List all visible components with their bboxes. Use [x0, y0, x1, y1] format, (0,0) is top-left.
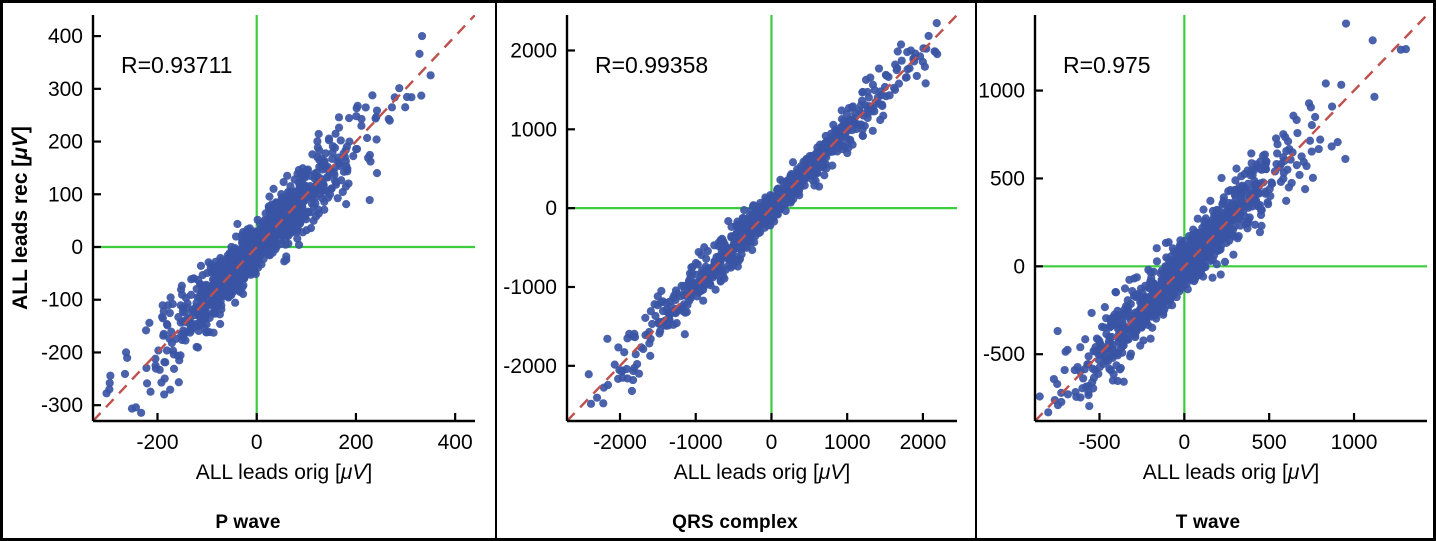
correlation-annotation: R=0.975 — [1063, 52, 1151, 78]
y-tick-label: 0 — [1013, 255, 1025, 278]
y-tick-label: -300 — [41, 394, 83, 417]
x-tick-label: 1000 — [824, 431, 871, 454]
y-axis-title: ALL leads rec [μV] — [9, 126, 32, 310]
y-tick-label: -2000 — [503, 355, 557, 378]
y-tick-label: -100 — [41, 289, 83, 312]
x-axis-title: ALL leads orig [μV] — [196, 461, 373, 484]
panel-caption-t-wave: T wave — [977, 512, 1436, 534]
x-tick-label: -500 — [1078, 431, 1120, 454]
correlation-annotation: R=0.99358 — [595, 52, 708, 78]
x-tick-label: 400 — [438, 431, 473, 454]
y-tick-label: 300 — [48, 78, 83, 101]
y-tick-label: -200 — [41, 341, 83, 364]
x-tick-label: 2000 — [900, 431, 947, 454]
y-tick-label: 1000 — [978, 80, 1025, 103]
panel-qrs-complex: -2000-1000010002000-2000-1000010002000AL… — [497, 3, 973, 541]
x-tick-label: -1000 — [669, 431, 723, 454]
panel-caption-qrs-complex: QRS complex — [497, 512, 973, 534]
correlation-annotation: R=0.93711 — [121, 52, 232, 78]
x-tick-label: 0 — [1178, 431, 1190, 454]
panel-caption-p-wave: P wave — [3, 512, 493, 534]
y-tick-label: -1000 — [503, 276, 557, 299]
x-tick-label: 200 — [338, 431, 373, 454]
x-tick-label: 0 — [766, 431, 778, 454]
y-tick-label: 400 — [48, 25, 83, 48]
scatter-plot-p-wave: -300-200-1000100200300400-2000200400ALL … — [3, 3, 493, 493]
y-tick-label: 100 — [48, 183, 83, 206]
scatter-plot-t-wave: -50005001000-50005001000ALL leads orig [… — [977, 3, 1436, 493]
x-tick-label: -200 — [136, 431, 178, 454]
x-tick-label: -2000 — [593, 431, 647, 454]
panel-t-wave: -50005001000-50005001000ALL leads orig [… — [977, 3, 1436, 541]
y-tick-label: 0 — [545, 197, 557, 220]
y-tick-label: 200 — [48, 131, 83, 154]
x-tick-label: 500 — [1252, 431, 1287, 454]
figure-container: -300-200-1000100200300400-2000200400ALL … — [0, 0, 1436, 541]
scatter-plot-qrs-complex: -2000-1000010002000-2000-1000010002000AL… — [497, 3, 973, 493]
y-tick-label: -500 — [983, 343, 1025, 366]
panel-p-wave: -300-200-1000100200300400-2000200400ALL … — [3, 3, 493, 541]
x-tick-label: 1000 — [1331, 431, 1378, 454]
y-tick-label: 500 — [990, 167, 1025, 190]
x-axis-title: ALL leads orig [μV] — [1143, 461, 1320, 484]
x-tick-label: 0 — [251, 431, 263, 454]
y-tick-label: 0 — [71, 236, 83, 259]
x-axis-title: ALL leads orig [μV] — [674, 461, 851, 484]
y-tick-label: 2000 — [510, 39, 557, 62]
y-tick-label: 1000 — [510, 118, 557, 141]
